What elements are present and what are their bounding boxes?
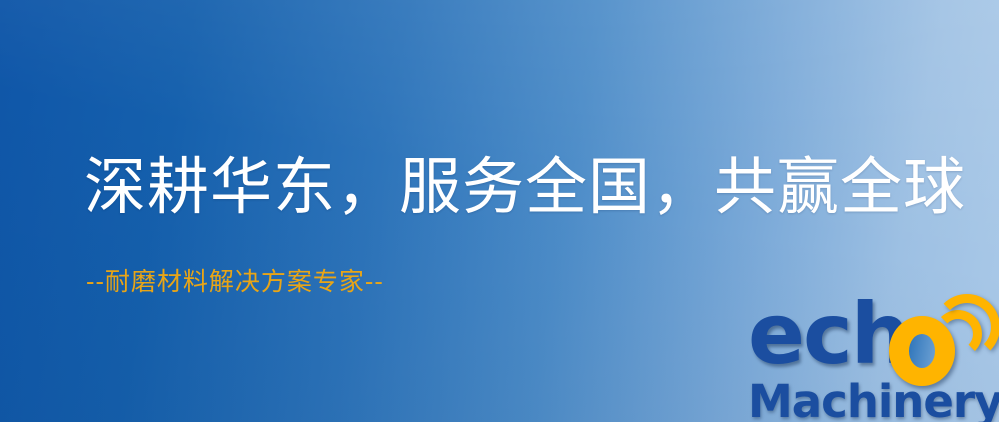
echo-wave-outer-icon: [934, 294, 999, 360]
logo-wordmark-echo: ech: [748, 292, 909, 376]
banner-headline: 深耕华东，服务全国，共赢全球: [84, 148, 966, 226]
logo-tagline-text: Machinery: [748, 375, 999, 422]
company-logo: ech Machinery®: [748, 296, 999, 422]
logo-tagline: Machinery®: [748, 372, 999, 422]
hero-banner: 深耕华东，服务全国，共赢全球 --耐磨材料解决方案专家-- ech Machin…: [0, 0, 999, 422]
banner-subtitle: --耐磨材料解决方案专家--: [86, 266, 384, 298]
